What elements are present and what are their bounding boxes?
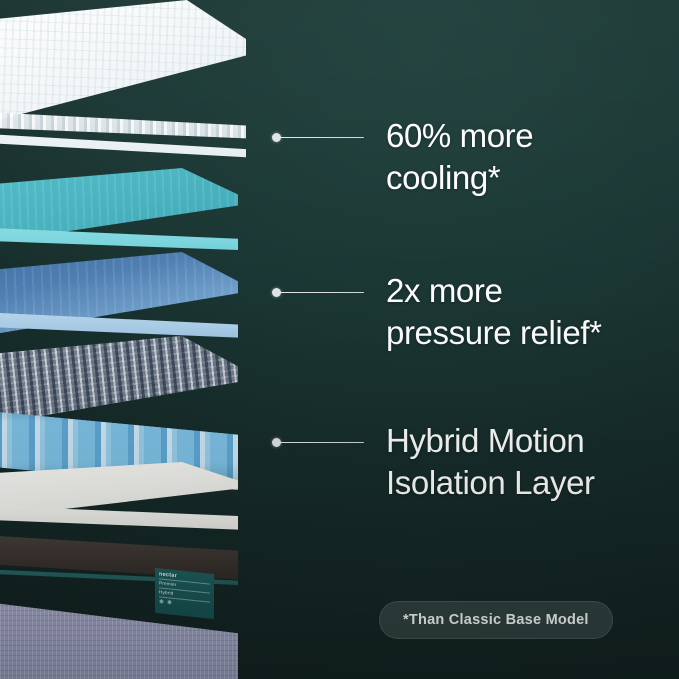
callout-pressure-relief: 2x more pressure relief* <box>272 272 602 354</box>
snowflake-icon: ❄ <box>167 600 172 607</box>
callout-motion-isolation: Hybrid Motion Isolation Layer <box>272 422 595 504</box>
callout-label: 60% more cooling* <box>386 115 533 199</box>
callout-label: Hybrid Motion Isolation Layer <box>386 420 595 504</box>
callout-connector <box>272 117 364 159</box>
callout-cooling: 60% more cooling* <box>272 117 533 199</box>
layer-coils-top <box>0 336 238 428</box>
layer-quilted-cover-top <box>0 0 246 126</box>
callout-label: 2x more pressure relief* <box>386 270 602 354</box>
brand-label-tag: nectar Premier Hybrid ❄ ❄ <box>155 568 214 619</box>
connector-line-icon <box>280 137 364 139</box>
mattress-layer-stack: nectar Premier Hybrid ❄ ❄ <box>0 0 280 679</box>
snowflake-icon: ❄ <box>159 599 164 606</box>
infographic-canvas: nectar Premier Hybrid ❄ ❄ 60% more cooli… <box>0 0 679 679</box>
footnote-badge: *Than Classic Base Model <box>379 601 613 639</box>
callout-connector <box>272 422 364 464</box>
callout-connector <box>272 272 364 314</box>
connector-line-icon <box>280 442 364 444</box>
connector-line-icon <box>280 292 364 294</box>
